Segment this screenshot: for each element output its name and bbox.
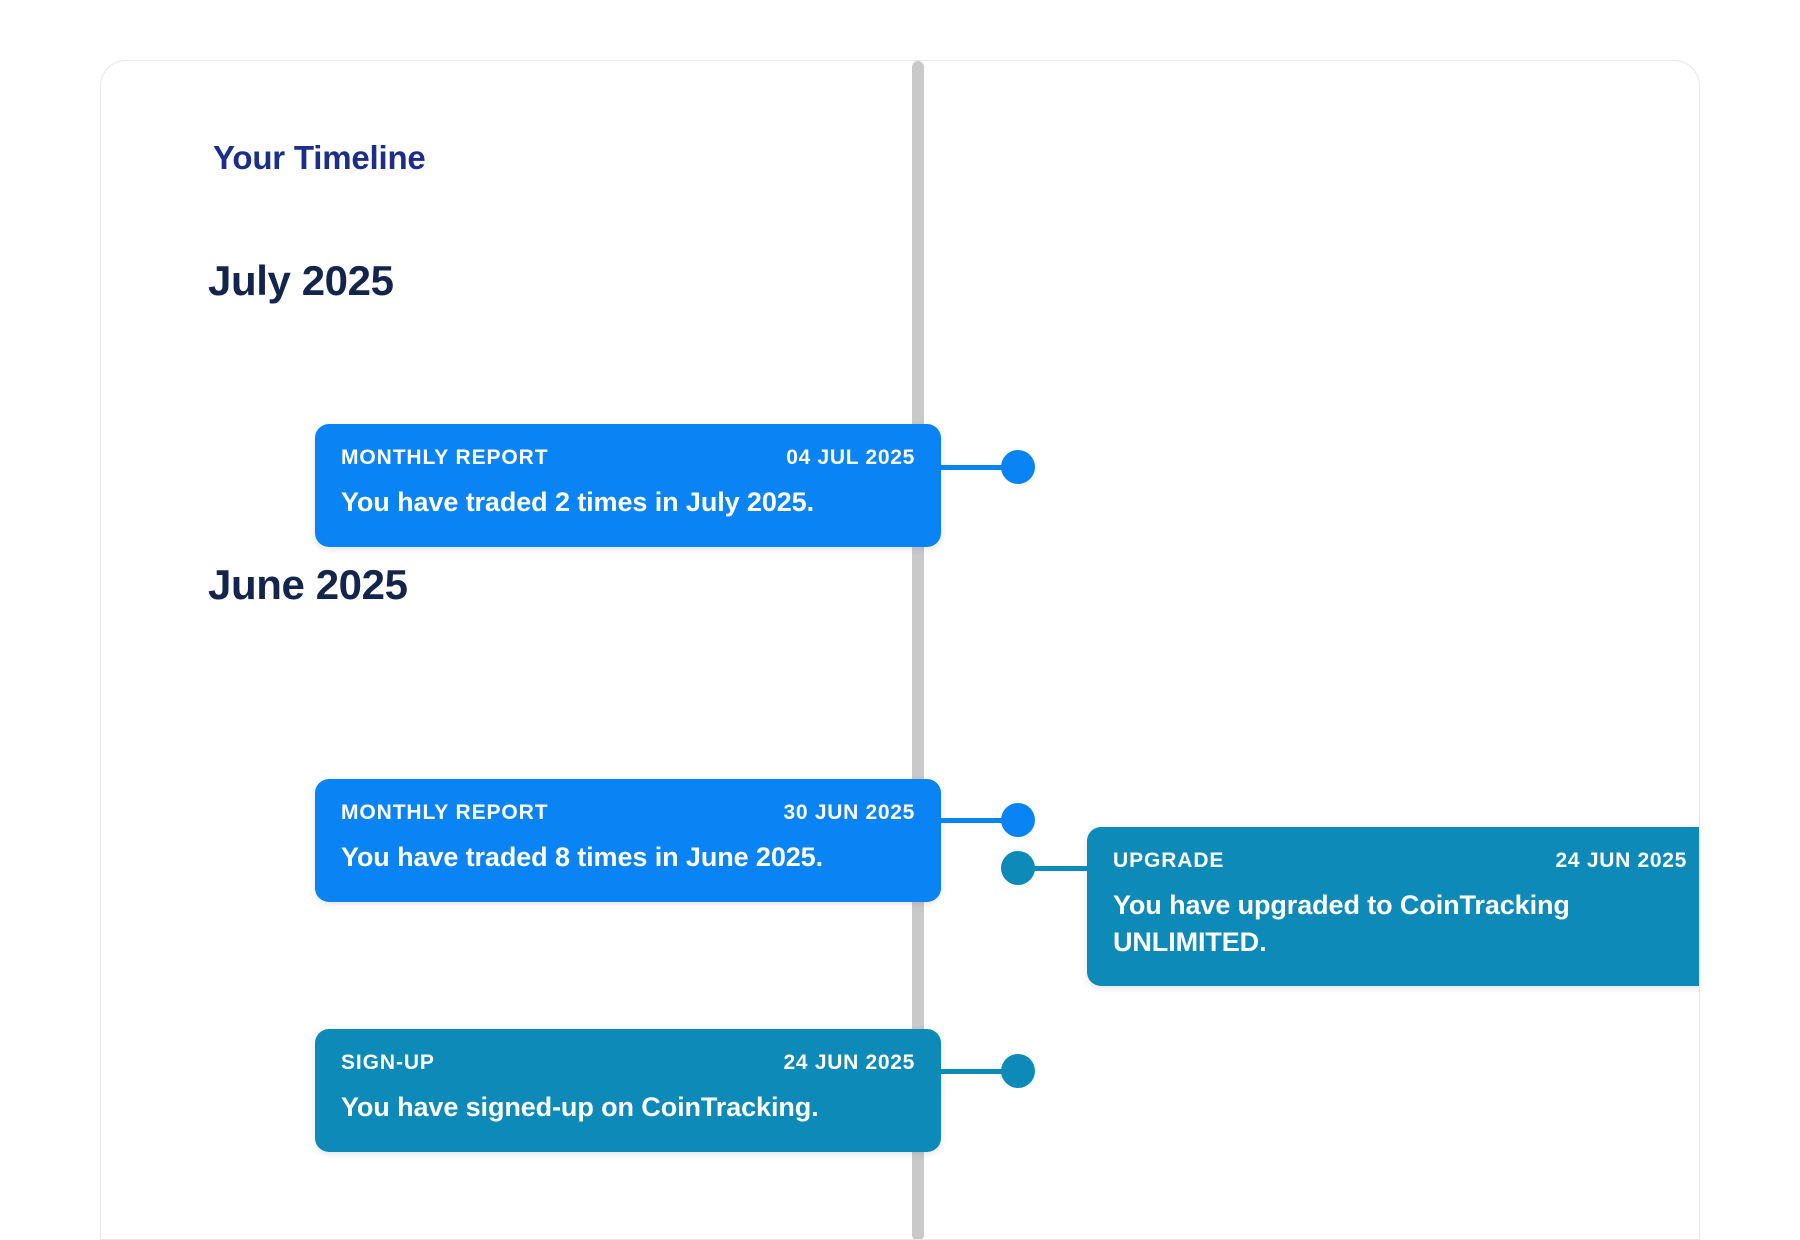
event-description: You have traded 2 times in July 2025. (341, 484, 915, 521)
event-description: You have signed-up on CoinTracking. (341, 1089, 915, 1126)
card-header: MONTHLY REPORT 30 JUN 2025 (341, 801, 915, 825)
timeline-dot-monthly-report-june[interactable] (1001, 803, 1035, 837)
month-heading-july: July 2025 (208, 257, 394, 305)
timeline-event-card-upgrade[interactable]: UPGRADE 24 JUN 2025 You have upgraded to… (1087, 827, 1700, 986)
event-date-label: 30 JUN 2025 (784, 801, 915, 825)
timeline-event-card-monthly-report-june[interactable]: MONTHLY REPORT 30 JUN 2025 You have trad… (315, 779, 941, 902)
connector-line-signup (939, 1069, 1007, 1074)
timeline-event-card-monthly-report-july[interactable]: MONTHLY REPORT 04 JUL 2025 You have trad… (315, 424, 941, 547)
event-kind-label: MONTHLY REPORT (341, 446, 548, 470)
timeline-dot-monthly-report-july[interactable] (1001, 450, 1035, 484)
event-kind-label: MONTHLY REPORT (341, 801, 548, 825)
event-kind-label: SIGN-UP (341, 1051, 435, 1075)
card-header: SIGN-UP 24 JUN 2025 (341, 1051, 915, 1075)
timeline: July 2025 MONTHLY REPORT 04 JUL 2025 You… (101, 61, 1699, 1239)
timeline-panel: Your Timeline July 2025 MONTHLY REPORT 0… (100, 60, 1700, 1240)
event-date-label: 24 JUN 2025 (784, 1051, 915, 1075)
page-root: Your Timeline July 2025 MONTHLY REPORT 0… (0, 0, 1800, 1200)
card-header: MONTHLY REPORT 04 JUL 2025 (341, 446, 915, 470)
timeline-dot-upgrade[interactable] (1001, 851, 1035, 885)
event-description: You have traded 8 times in June 2025. (341, 839, 915, 876)
event-kind-label: UPGRADE (1113, 849, 1224, 873)
timeline-event-card-signup[interactable]: SIGN-UP 24 JUN 2025 You have signed-up o… (315, 1029, 941, 1152)
connector-line-monthly-report-july (939, 465, 1007, 470)
connector-line-monthly-report-june (939, 818, 1007, 823)
event-date-label: 24 JUN 2025 (1556, 849, 1687, 873)
month-heading-june: June 2025 (208, 561, 408, 609)
card-header: UPGRADE 24 JUN 2025 (1113, 849, 1687, 873)
event-description: You have upgraded to CoinTracking UNLIMI… (1113, 887, 1687, 960)
timeline-dot-signup[interactable] (1001, 1054, 1035, 1088)
event-date-label: 04 JUL 2025 (786, 446, 915, 470)
